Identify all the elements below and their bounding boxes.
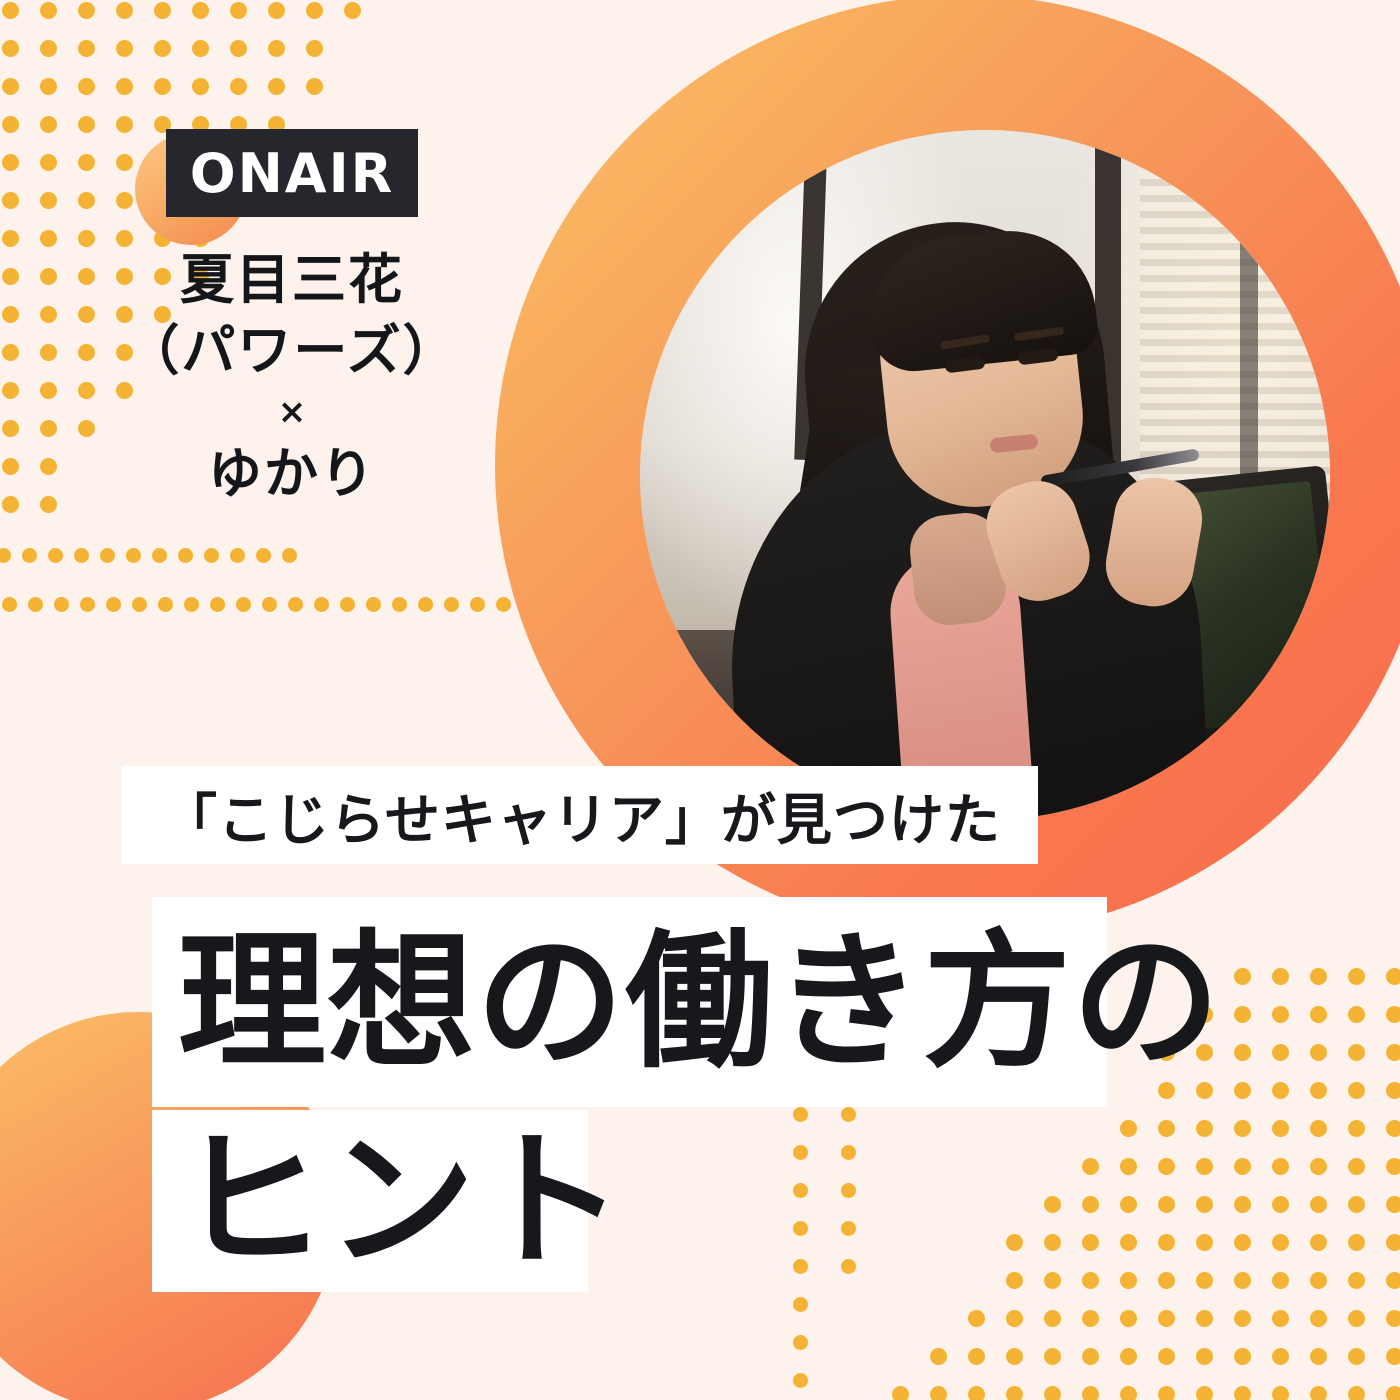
decorative-dot bbox=[892, 1386, 909, 1400]
decorative-dot bbox=[1272, 1272, 1289, 1289]
decorative-dot bbox=[1158, 1196, 1175, 1213]
decorative-dot bbox=[40, 40, 57, 57]
decorative-dot bbox=[1044, 1196, 1061, 1213]
decorative-dot bbox=[793, 1145, 808, 1160]
guest-partner-name: ゆかり bbox=[118, 438, 466, 509]
decorative-dot bbox=[2, 597, 17, 612]
decorative-dot bbox=[28, 597, 43, 612]
decorative-dot bbox=[1310, 1196, 1327, 1213]
decorative-dot bbox=[1348, 1044, 1365, 1061]
decorative-dot bbox=[40, 78, 57, 95]
decorative-dot bbox=[1310, 1044, 1327, 1061]
decorative-dot bbox=[78, 344, 95, 361]
decorative-dot bbox=[40, 496, 57, 513]
decorative-dot bbox=[1272, 1044, 1289, 1061]
decorative-dot bbox=[1120, 1158, 1137, 1175]
guest-cross-symbol: × bbox=[118, 387, 466, 438]
decorative-dot bbox=[470, 597, 485, 612]
decorative-dot bbox=[344, 2, 361, 19]
decorative-dot bbox=[1310, 1082, 1327, 1099]
decorative-dot bbox=[1348, 1120, 1365, 1137]
decorative-dot bbox=[306, 78, 323, 95]
decorative-dot bbox=[1348, 1272, 1365, 1289]
decorative-dot bbox=[1234, 1348, 1251, 1365]
decorative-dot bbox=[930, 1348, 947, 1365]
decorative-dot bbox=[1310, 1120, 1327, 1137]
decorative-dot bbox=[2, 268, 19, 285]
onair-label: ONAIR bbox=[190, 142, 395, 205]
decorative-dot bbox=[1044, 1310, 1061, 1327]
decorative-dot bbox=[1120, 1120, 1137, 1137]
decorative-dot bbox=[40, 230, 57, 247]
decorative-dot bbox=[178, 548, 193, 563]
decorative-dot bbox=[1158, 1272, 1175, 1289]
decorative-dot bbox=[40, 268, 57, 285]
decorative-dot bbox=[841, 1259, 856, 1274]
decorative-dot bbox=[1234, 1234, 1251, 1251]
decorative-dot bbox=[0, 548, 11, 563]
decorative-dot bbox=[1158, 1348, 1175, 1365]
decorative-dot bbox=[78, 40, 95, 57]
decorative-dot bbox=[1272, 1158, 1289, 1175]
window-frame bbox=[1240, 130, 1258, 530]
decorative-dot bbox=[184, 597, 199, 612]
decorative-dot bbox=[1196, 1272, 1213, 1289]
decorative-dot bbox=[116, 154, 133, 171]
decorative-dot bbox=[1044, 1386, 1061, 1400]
decorative-dot bbox=[154, 2, 171, 19]
decorative-dot bbox=[1386, 1272, 1400, 1289]
guest-name-block: 夏目三花 （パワーズ） × ゆかり bbox=[118, 244, 466, 509]
decorative-dot bbox=[1386, 1310, 1400, 1327]
decorative-dot bbox=[841, 1107, 856, 1122]
decorative-dot bbox=[2, 420, 19, 437]
decorative-dot bbox=[1234, 1120, 1251, 1137]
decorative-dot bbox=[1310, 1386, 1327, 1400]
decorative-dot bbox=[48, 548, 63, 563]
decorative-dot bbox=[1120, 1272, 1137, 1289]
decorative-dot bbox=[40, 458, 57, 475]
decorative-dot bbox=[126, 548, 141, 563]
decorative-dot bbox=[236, 597, 251, 612]
decorative-dot bbox=[1044, 1234, 1061, 1251]
photo-background bbox=[640, 130, 1330, 820]
decorative-dot bbox=[1082, 1386, 1099, 1400]
onair-badge: ONAIR bbox=[166, 129, 418, 217]
decorative-dot bbox=[256, 548, 271, 563]
decorative-dot bbox=[1234, 1006, 1251, 1023]
decorative-dot bbox=[132, 597, 147, 612]
decorative-dot bbox=[154, 40, 171, 57]
decorative-dot bbox=[841, 1221, 856, 1236]
decorative-dot bbox=[1006, 1348, 1023, 1365]
decorative-dot bbox=[841, 1183, 856, 1198]
decorative-dot bbox=[74, 548, 89, 563]
decorative-dot bbox=[100, 548, 115, 563]
decorative-dot bbox=[793, 1335, 808, 1350]
decorative-dot bbox=[1006, 1234, 1023, 1251]
decorative-dot bbox=[78, 116, 95, 133]
decorative-dot bbox=[40, 382, 57, 399]
decorative-dot bbox=[1006, 1272, 1023, 1289]
decorative-dot bbox=[496, 597, 511, 612]
decorative-dot bbox=[1348, 1006, 1365, 1023]
decorative-dot bbox=[158, 597, 173, 612]
decorative-dot bbox=[392, 597, 407, 612]
decorative-dot bbox=[1310, 968, 1327, 985]
decorative-dot bbox=[116, 40, 133, 57]
decorative-dot bbox=[1234, 1272, 1251, 1289]
decorative-dot bbox=[1272, 1386, 1289, 1400]
decorative-dot bbox=[1310, 1348, 1327, 1365]
decorative-dot bbox=[1196, 1120, 1213, 1137]
decorative-dot bbox=[1120, 1310, 1137, 1327]
decorative-dot bbox=[78, 268, 95, 285]
decorative-dot bbox=[40, 154, 57, 171]
title-text-line1: 理想の働き方の bbox=[178, 928, 1221, 1076]
decorative-dot bbox=[152, 548, 167, 563]
decorative-dot bbox=[1082, 1196, 1099, 1213]
decorative-dot bbox=[1386, 1386, 1400, 1400]
decorative-dot bbox=[1196, 1234, 1213, 1251]
decorative-dot bbox=[230, 548, 245, 563]
decorative-dot bbox=[930, 1386, 947, 1400]
decorative-dot bbox=[306, 2, 323, 19]
decorative-dot bbox=[1310, 1006, 1327, 1023]
subtitle-panel: 「こじらせキャリア」が見つけた bbox=[122, 766, 1038, 864]
decorative-dot bbox=[2, 458, 19, 475]
decorative-dot bbox=[444, 597, 459, 612]
decorative-dot bbox=[1158, 1120, 1175, 1137]
decorative-dot bbox=[78, 230, 95, 247]
decorative-dot bbox=[106, 597, 121, 612]
decorative-dot bbox=[968, 1348, 985, 1365]
decorative-dot bbox=[1272, 1196, 1289, 1213]
decorative-dot bbox=[230, 40, 247, 57]
decorative-dot bbox=[1158, 1386, 1175, 1400]
decorative-dot bbox=[1272, 968, 1289, 985]
decorative-dot bbox=[2, 192, 19, 209]
decorative-dot bbox=[1044, 1348, 1061, 1365]
decorative-dot bbox=[1196, 1386, 1213, 1400]
decorative-dot bbox=[2, 40, 19, 57]
decorative-dot bbox=[1234, 1044, 1251, 1061]
poster-canvas: ONAIR 夏目三花 （パワーズ） × ゆかり 「こじらせキャリア」が見つけた … bbox=[0, 0, 1400, 1400]
decorative-dot bbox=[78, 78, 95, 95]
window-blind bbox=[1140, 170, 1330, 500]
decorative-dot bbox=[40, 306, 57, 323]
decorative-dot bbox=[1386, 1120, 1400, 1137]
decorative-dot bbox=[793, 1373, 808, 1388]
decorative-dot bbox=[282, 548, 297, 563]
decorative-dot bbox=[1348, 1196, 1365, 1213]
decorative-dot bbox=[1234, 968, 1251, 985]
decorative-dot bbox=[793, 1297, 808, 1312]
decorative-dot bbox=[1120, 1348, 1137, 1365]
decorative-dot bbox=[1348, 1310, 1365, 1327]
subtitle-text: 「こじらせキャリア」が見つけた bbox=[162, 775, 1001, 855]
decorative-dot bbox=[40, 2, 57, 19]
decorative-dot bbox=[78, 2, 95, 19]
decorative-dot bbox=[1386, 1006, 1400, 1023]
decorative-dot bbox=[968, 1386, 985, 1400]
decorative-dot bbox=[1272, 1310, 1289, 1327]
decorative-dot bbox=[1120, 1196, 1137, 1213]
decorative-dot bbox=[192, 40, 209, 57]
decorative-dot bbox=[2, 344, 19, 361]
decorative-dot bbox=[1234, 1082, 1251, 1099]
decorative-dot bbox=[192, 2, 209, 19]
decorative-dot bbox=[2, 306, 19, 323]
decorative-dot bbox=[1196, 1348, 1213, 1365]
decorative-dot bbox=[1386, 968, 1400, 985]
decorative-dot bbox=[40, 116, 57, 133]
guest-name: 夏目三花 bbox=[118, 244, 466, 315]
decorative-dot bbox=[1006, 1386, 1023, 1400]
decorative-dot bbox=[1120, 1386, 1137, 1400]
decorative-dot bbox=[1044, 1272, 1061, 1289]
decorative-dot bbox=[1348, 1386, 1365, 1400]
decorative-dot bbox=[418, 597, 433, 612]
decorative-dot bbox=[78, 420, 95, 437]
decorative-dot bbox=[22, 548, 37, 563]
decorative-dot bbox=[968, 1310, 985, 1327]
decorative-dot bbox=[78, 192, 95, 209]
decorative-dot bbox=[80, 597, 95, 612]
decorative-dot bbox=[204, 548, 219, 563]
title-panel-line2: ヒント bbox=[152, 1110, 588, 1292]
decorative-dot bbox=[1272, 1120, 1289, 1137]
decorative-dot bbox=[230, 2, 247, 19]
decorative-dot bbox=[1196, 1196, 1213, 1213]
decorative-dot bbox=[1234, 1386, 1251, 1400]
decorative-dot bbox=[366, 597, 381, 612]
decorative-dot bbox=[268, 2, 285, 19]
decorative-dot bbox=[340, 597, 355, 612]
decorative-dot bbox=[1348, 1348, 1365, 1365]
decorative-dot bbox=[1386, 1234, 1400, 1251]
decorative-dot bbox=[1196, 1310, 1213, 1327]
decorative-dot bbox=[793, 1221, 808, 1236]
decorative-dot bbox=[2, 496, 19, 513]
decorative-dot bbox=[1082, 1348, 1099, 1365]
circular-photo bbox=[640, 130, 1330, 820]
decorative-dot bbox=[1082, 1234, 1099, 1251]
decorative-dot bbox=[1082, 1158, 1099, 1175]
decorative-dot bbox=[1386, 1044, 1400, 1061]
decorative-dot bbox=[1348, 1158, 1365, 1175]
decorative-dot bbox=[2, 78, 19, 95]
decorative-dot bbox=[288, 597, 303, 612]
decorative-dot bbox=[306, 40, 323, 57]
decorative-dot bbox=[268, 40, 285, 57]
decorative-dot bbox=[1158, 1158, 1175, 1175]
decorative-dot bbox=[210, 597, 225, 612]
decorative-dot bbox=[1272, 1234, 1289, 1251]
decorative-dot bbox=[2, 116, 19, 133]
decorative-dot bbox=[40, 344, 57, 361]
decorative-dot bbox=[1348, 1234, 1365, 1251]
decorative-dot bbox=[2, 154, 19, 171]
title-text-line2: ヒント bbox=[178, 1127, 625, 1275]
decorative-dot bbox=[1386, 1158, 1400, 1175]
decorative-dot bbox=[793, 1107, 808, 1122]
decorative-dot bbox=[116, 2, 133, 19]
decorative-dot bbox=[78, 154, 95, 171]
decorative-dot bbox=[54, 597, 69, 612]
decorative-dot bbox=[1196, 1158, 1213, 1175]
decorative-dot bbox=[1386, 1348, 1400, 1365]
decorative-dot bbox=[1082, 1310, 1099, 1327]
decorative-dot bbox=[230, 78, 247, 95]
decorative-dot bbox=[1120, 1234, 1137, 1251]
decorative-dot bbox=[116, 116, 133, 133]
decorative-dot bbox=[793, 1183, 808, 1198]
decorative-dot bbox=[1082, 1272, 1099, 1289]
decorative-dot bbox=[314, 597, 329, 612]
decorative-dot bbox=[1272, 1348, 1289, 1365]
decorative-dot bbox=[116, 192, 133, 209]
decorative-dot bbox=[1386, 1196, 1400, 1213]
decorative-dot bbox=[2, 2, 19, 19]
decorative-dot bbox=[78, 382, 95, 399]
decorative-dot bbox=[262, 597, 277, 612]
decorative-dot bbox=[2, 382, 19, 399]
decorative-dot bbox=[1006, 1310, 1023, 1327]
decorative-dot bbox=[40, 192, 57, 209]
decorative-dot bbox=[1272, 1006, 1289, 1023]
decorative-dot bbox=[1348, 968, 1365, 985]
title-panel-line1: 理想の働き方の bbox=[152, 897, 1107, 1107]
guest-affiliation: （パワーズ） bbox=[118, 315, 466, 386]
decorative-dot bbox=[1386, 1082, 1400, 1099]
decorative-dot bbox=[841, 1145, 856, 1160]
decorative-dot bbox=[2, 230, 19, 247]
decorative-dot bbox=[1234, 1196, 1251, 1213]
decorative-dot bbox=[1158, 1234, 1175, 1251]
decorative-dot bbox=[116, 78, 133, 95]
decorative-dot bbox=[1234, 1310, 1251, 1327]
decorative-dot bbox=[40, 420, 57, 437]
decorative-dot bbox=[78, 306, 95, 323]
decorative-dot bbox=[1310, 1234, 1327, 1251]
decorative-dot bbox=[1310, 1272, 1327, 1289]
decorative-dot bbox=[192, 78, 209, 95]
decorative-dot bbox=[1272, 1082, 1289, 1099]
decorative-dot bbox=[793, 1259, 808, 1274]
decorative-dot bbox=[1310, 1310, 1327, 1327]
decorative-dot bbox=[1310, 1158, 1327, 1175]
decorative-dot bbox=[1158, 1310, 1175, 1327]
decorative-dot bbox=[268, 78, 285, 95]
decorative-dot bbox=[1234, 1158, 1251, 1175]
decorative-dot bbox=[154, 78, 171, 95]
decorative-dot bbox=[1348, 1082, 1365, 1099]
